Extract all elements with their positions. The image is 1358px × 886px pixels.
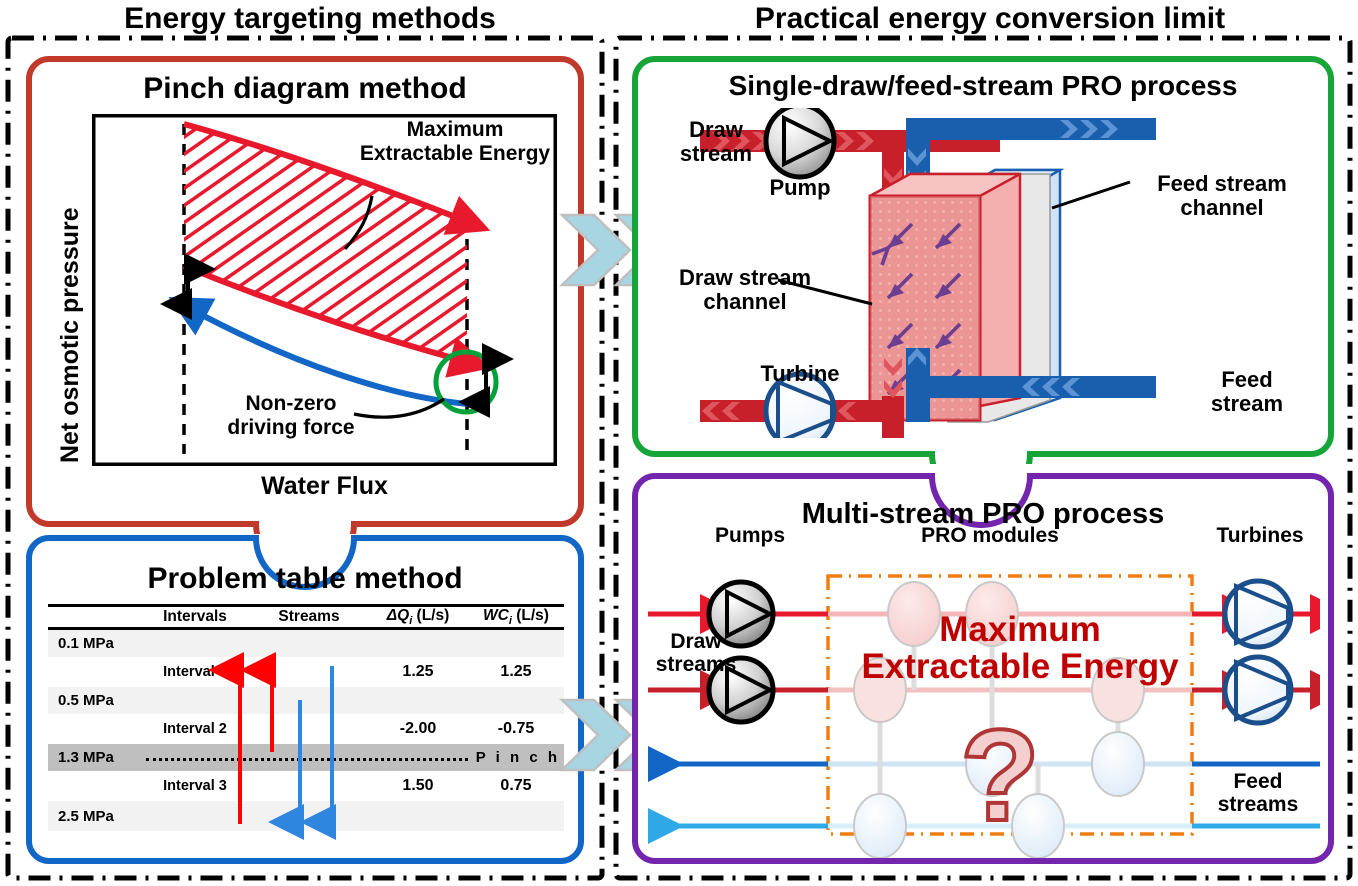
label-draw-streams: Draw streams: [632, 630, 760, 676]
interval-dq: 1.50: [368, 771, 468, 801]
table-row: 2.5 MPa: [48, 801, 564, 831]
interval-dq: 1.25: [368, 657, 468, 687]
draw-channel-line-2: channel: [650, 290, 840, 314]
interval-wc: 1.25: [468, 657, 564, 687]
interval-name: Interval 1: [140, 657, 250, 687]
max-extractable-energy-text: Maximum Extractable Energy: [830, 612, 1210, 686]
label-pumps: Pumps: [700, 524, 800, 547]
table-row-pinch: 1.3 MPa P i n c h: [48, 744, 564, 771]
pinch-pressure: 1.3 MPa: [48, 744, 140, 771]
table-header-row: Intervals Streams ΔQi (L/s) WCi (L/s): [48, 607, 564, 627]
th-intervals: Intervals: [140, 607, 250, 627]
table-row: Interval 2 -2.00 -0.75: [48, 714, 564, 744]
label-draw-stream: Draw stream: [660, 118, 772, 166]
draw-channel-line-1: Draw stream: [650, 266, 840, 290]
level-pressure: 2.5 MPa: [48, 801, 140, 831]
feed-streams-line-2: streams: [1196, 793, 1320, 816]
problem-table-region: Intervals Streams ΔQi (L/s) WCi (L/s) 0.…: [48, 604, 564, 844]
feed-stream-line-2: stream: [1192, 392, 1302, 416]
th-wc: WCi (L/s): [468, 607, 564, 627]
turbine-icon: [1225, 581, 1291, 647]
interval-wc: -0.75: [468, 714, 564, 744]
pinch-label: P i n c h: [468, 744, 564, 771]
table-body: 0.1 MPa Interval 1 1.25 1.25 0.5 MPa Int…: [48, 630, 564, 831]
label-pro-modules: PRO modules: [900, 524, 1080, 547]
label-turbines: Turbines: [1200, 524, 1320, 547]
left-column-heading: Energy targeting methods: [10, 2, 610, 36]
feed-channel-line-2: channel: [1132, 196, 1312, 220]
nonzero-line-2: driving force: [196, 416, 386, 440]
level-pressure: 0.5 MPa: [48, 687, 140, 714]
interval-name: Interval 3: [140, 771, 250, 801]
pinch-annotation-nonzero: Non-zero driving force: [196, 392, 386, 439]
right-column-heading: Practical energy conversion limit: [628, 2, 1352, 36]
interval-name: Interval 2: [140, 714, 250, 744]
draw-stream-line-2: stream: [660, 142, 772, 166]
label-turbine: Turbine: [748, 362, 852, 386]
draw-streams-line-1: Draw: [632, 630, 760, 653]
max-energy-multi-line-1: Maximum: [830, 612, 1210, 649]
pump-icon: [766, 108, 834, 177]
feed-channel-line-1: Feed stream: [1132, 172, 1312, 196]
question-mark-icon: ?: [960, 702, 1039, 848]
table-row: Interval 3 1.50 0.75: [48, 771, 564, 801]
interval-wc: 0.75: [468, 771, 564, 801]
pinch-xlabel: Water Flux: [92, 472, 557, 501]
interval-dq: -2.00: [368, 714, 468, 744]
max-energy-line-1: Maximum: [340, 118, 570, 142]
feed-streams-line-1: Feed: [1196, 770, 1320, 793]
th-blank: [48, 607, 140, 627]
max-energy-multi-line-2: Extractable Energy: [830, 649, 1210, 686]
problem-table: Intervals Streams ΔQi (L/s) WCi (L/s) 0.…: [48, 604, 564, 831]
label-draw-stream-channel: Draw stream channel: [650, 266, 840, 314]
max-energy-line-2: Extractable Energy: [340, 142, 570, 166]
pinch-annotation-max-energy: Maximum Extractable Energy: [340, 118, 570, 165]
draw-streams-line-2: streams: [632, 653, 760, 676]
level-pressure: 0.1 MPa: [48, 630, 140, 657]
problem-table-panel-title: Problem table method: [24, 562, 586, 596]
label-feed-stream-channel: Feed stream channel: [1132, 172, 1312, 220]
label-pump: Pump: [750, 176, 850, 200]
single-stream-panel-title: Single-draw/feed-stream PRO process: [630, 70, 1336, 102]
turbine-icon: [1225, 657, 1291, 723]
table-row: 0.1 MPa: [48, 630, 564, 657]
label-feed-stream: Feed stream: [1192, 368, 1302, 416]
th-streams: Streams: [250, 607, 368, 627]
pinch-ylabel: Net osmotic pressure: [56, 207, 85, 463]
table-row: Interval 1 1.25 1.25: [48, 657, 564, 687]
svg-text:?: ?: [960, 702, 1039, 848]
th-delta-q: ΔQi (L/s): [368, 607, 468, 627]
label-feed-streams: Feed streams: [1196, 770, 1320, 816]
pinch-panel-title: Pinch diagram method: [24, 72, 586, 106]
nonzero-line-1: Non-zero: [196, 392, 386, 416]
table-row: 0.5 MPa: [48, 687, 564, 714]
feed-stream-line-1: Feed: [1192, 368, 1302, 392]
draw-stream-line-1: Draw: [660, 118, 772, 142]
